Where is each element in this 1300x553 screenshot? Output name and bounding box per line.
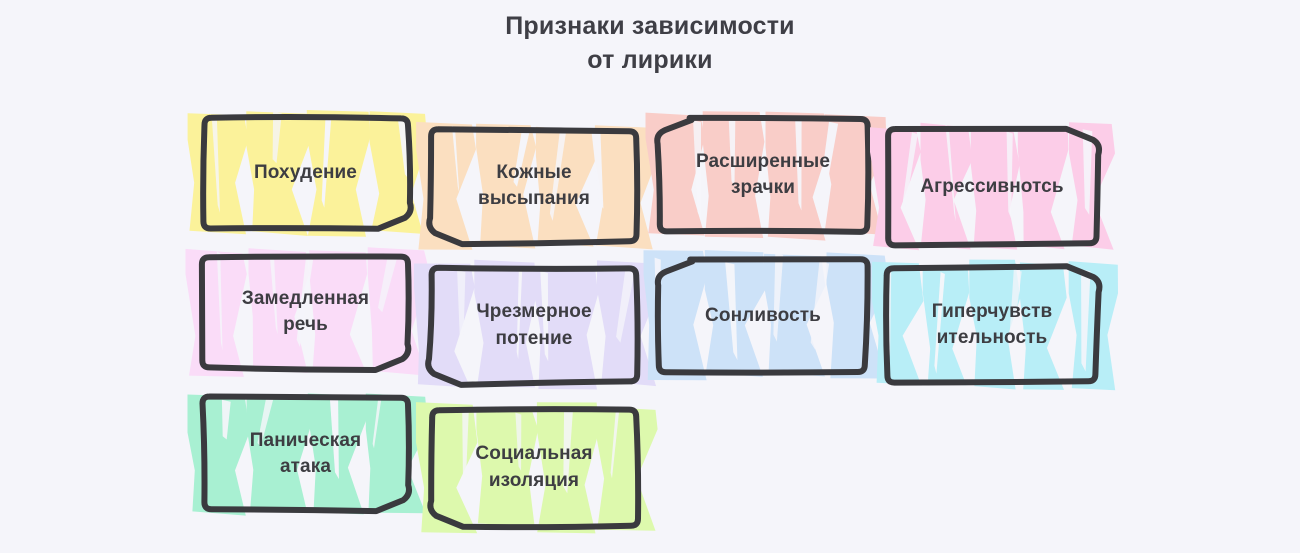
card-zamedlennaya-rech-label: Замедленная речь: [203, 256, 408, 368]
card-rasshirennye-zrachki[interactable]: Расширенные зрачки: [660, 118, 866, 232]
card-kozhnye-vysypaniya-label: Кожные высыпания: [431, 130, 637, 242]
card-panicheskaya-ataka[interactable]: Паническая атака: [203, 398, 408, 510]
card-giperchuvstvitelnost[interactable]: Гиперчувств ительность: [888, 268, 1096, 382]
board: Признаки зависимости от лирики Похудение…: [0, 0, 1300, 546]
card-panicheskaya-ataka-label: Паническая атака: [203, 398, 408, 510]
card-agressivnotsy[interactable]: Агрессивнотсь: [888, 130, 1096, 244]
card-sonlivost-label: Сонливость: [660, 259, 866, 373]
card-kozhnye-vysypaniya[interactable]: Кожные высыпания: [431, 130, 637, 242]
card-rasshirennye-zrachki-label: Расширенные зрачки: [660, 118, 866, 232]
card-chrezmernoe-potenie-label: Чрезмерное потение: [431, 268, 637, 383]
card-sotsialnaya-izolyatsiya-label: Социальная изоляция: [431, 410, 637, 525]
card-pohudenie-label: Похудение: [203, 117, 408, 229]
card-giperchuvstvitelnost-label: Гиперчувств ительность: [888, 268, 1096, 382]
card-sotsialnaya-izolyatsiya[interactable]: Социальная изоляция: [431, 410, 637, 525]
card-sonlivost[interactable]: Сонливость: [660, 259, 866, 373]
card-agressivnotsy-label: Агрессивнотсь: [888, 130, 1096, 244]
card-chrezmernoe-potenie[interactable]: Чрезмерное потение: [431, 268, 637, 383]
card-pohudenie[interactable]: Похудение: [203, 117, 408, 229]
card-zamedlennaya-rech[interactable]: Замедленная речь: [203, 256, 408, 368]
page-title: Признаки зависимости от лирики: [0, 10, 1300, 78]
